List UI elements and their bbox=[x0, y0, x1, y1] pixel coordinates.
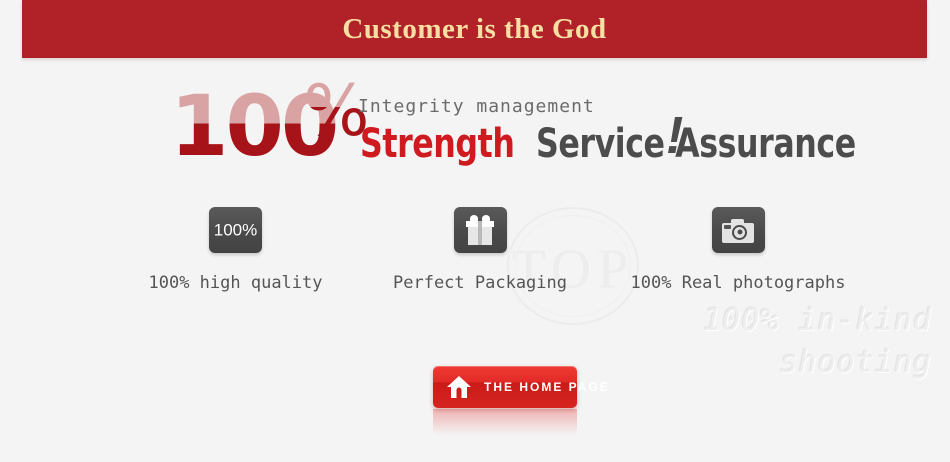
banner-title: Customer is the God bbox=[342, 15, 606, 44]
headline-main-gray: Service Assurance bbox=[536, 121, 856, 167]
headline-exclamation: ! bbox=[666, 110, 683, 162]
camera-lens-center bbox=[737, 230, 742, 235]
feature-row: 100% 100% high quality Perfect Packaging bbox=[0, 207, 950, 317]
camera-lens bbox=[732, 225, 747, 240]
header-banner: Customer is the God bbox=[22, 0, 927, 58]
promo-banner-page: Customer is the God TOP 100% in-kind sho… bbox=[0, 0, 950, 462]
headline-subtitle: Integrity management bbox=[358, 96, 595, 117]
gift-box-glyph bbox=[466, 215, 494, 245]
feature-item-quality: 100% 100% high quality bbox=[118, 207, 353, 293]
percent-badge-icon-label: 100% bbox=[209, 222, 262, 239]
camera-icon bbox=[712, 207, 765, 253]
home-page-button-label: THE HOME PAGE bbox=[484, 380, 610, 394]
feature-caption-photographs: 100% Real photographs bbox=[608, 273, 868, 293]
watermark-line-2: shooting bbox=[602, 342, 932, 384]
feature-caption-packaging: Perfect Packaging bbox=[370, 273, 590, 293]
gift-ribbon bbox=[478, 221, 482, 245]
camera-glyph bbox=[722, 219, 754, 243]
home-page-button[interactable]: THE HOME PAGE bbox=[433, 366, 577, 408]
feature-item-photographs: 100% Real photographs bbox=[608, 207, 868, 293]
percent-badge-icon: 100% bbox=[209, 207, 262, 253]
gift-box-icon bbox=[454, 207, 507, 253]
feature-caption-quality: 100% high quality bbox=[118, 273, 353, 293]
headline-main-red: Strength bbox=[360, 121, 514, 167]
feature-item-packaging: Perfect Packaging bbox=[370, 207, 590, 293]
house-icon bbox=[446, 375, 472, 399]
headline-main: StrengthService Assurance bbox=[360, 121, 899, 176]
home-button-reflection bbox=[433, 409, 577, 435]
headline-block: 100 % Integrity management StrengthServi… bbox=[170, 88, 870, 183]
camera-viewfinder bbox=[724, 225, 731, 229]
